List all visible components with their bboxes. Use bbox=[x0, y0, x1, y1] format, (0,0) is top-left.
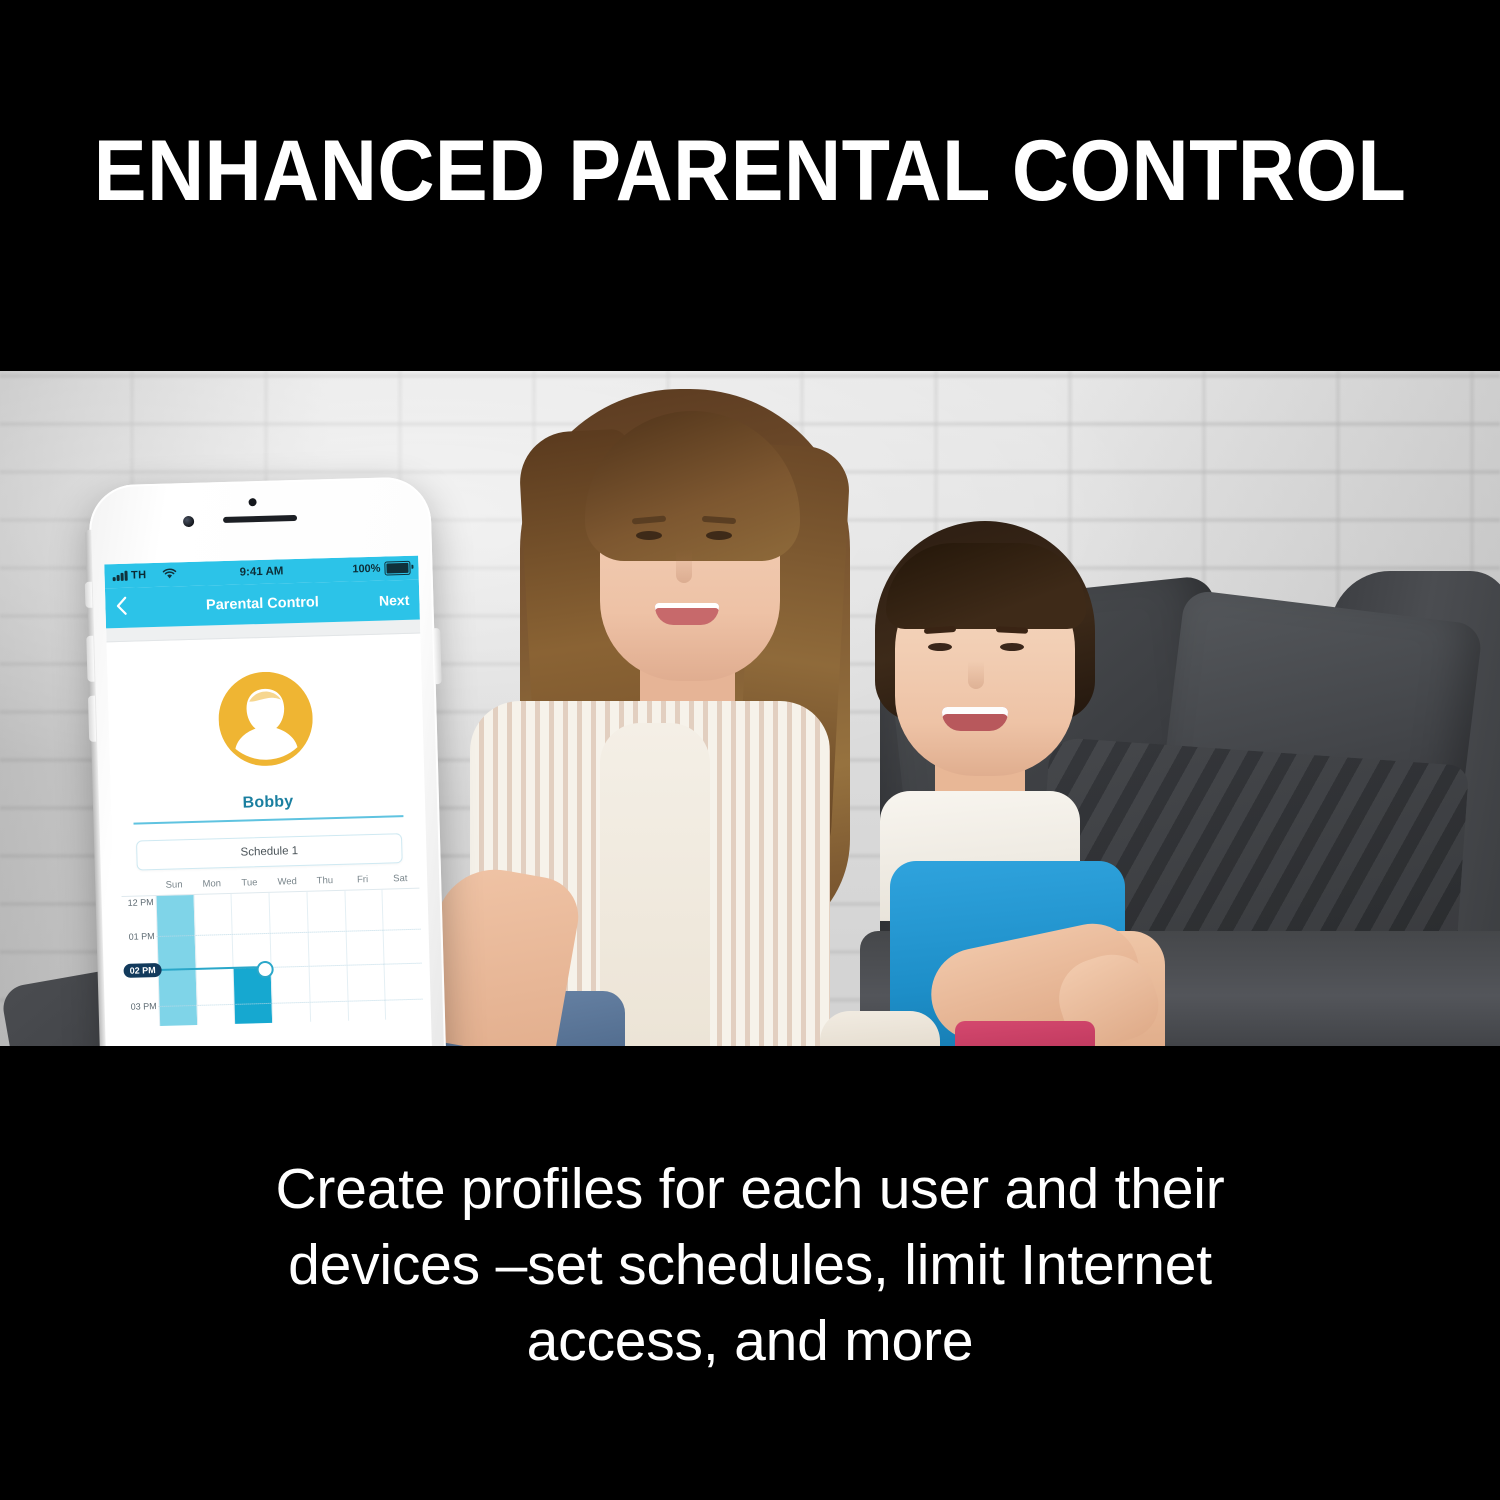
mother-smile bbox=[655, 603, 719, 625]
caption-line-3: access, and more bbox=[0, 1304, 1500, 1380]
battery-percent-label: 100% bbox=[352, 563, 380, 576]
time-label-03pm: 03 PM bbox=[130, 1001, 156, 1012]
page-title: ENHANCED PARENTAL CONTROL bbox=[60, 128, 1440, 214]
status-bar-left: TH bbox=[112, 568, 176, 583]
product-feature-card: ENHANCED PARENTAL CONTROL bbox=[0, 0, 1500, 1500]
day-header-sat: Sat bbox=[381, 872, 419, 884]
caption-line-2: devices –set schedules, limit Internet bbox=[0, 1228, 1500, 1304]
profile-section: Bobby bbox=[106, 634, 425, 825]
phone-mockup: TH 9:41 AM 100% bbox=[88, 476, 447, 1046]
boy-shorts bbox=[955, 1021, 1095, 1046]
time-label-01pm: 01 PM bbox=[129, 931, 155, 942]
wifi-icon bbox=[162, 568, 176, 581]
mother-eye-left bbox=[636, 531, 662, 540]
feature-caption: Create profiles for each user and their … bbox=[0, 1152, 1500, 1379]
battery-full-icon bbox=[384, 561, 410, 576]
day-header-thu: Thu bbox=[306, 874, 344, 886]
boy-hair-fringe bbox=[886, 543, 1086, 629]
name-underline bbox=[133, 815, 403, 824]
schedule-drag-handle[interactable] bbox=[256, 960, 273, 977]
nav-title: Parental Control bbox=[105, 592, 419, 617]
caption-line-1: Create profiles for each user and their bbox=[0, 1152, 1500, 1228]
day-header-wed: Wed bbox=[268, 875, 306, 887]
phone-volume-down-button[interactable] bbox=[88, 696, 96, 742]
day-header-mon: Mon bbox=[193, 877, 231, 889]
time-label-02pm-active[interactable]: 02 PM bbox=[123, 962, 161, 977]
boy-eye-right bbox=[1000, 643, 1024, 651]
grid-corner-spacer bbox=[121, 880, 155, 892]
schedule-grid[interactable]: Sun Mon Tue Wed Thu Fri Sat 12 PM bbox=[121, 872, 423, 1026]
carrier-label: TH bbox=[131, 569, 147, 581]
boy-eye-left bbox=[928, 643, 952, 651]
phone-mute-switch[interactable] bbox=[85, 582, 93, 608]
phone-volume-up-button[interactable] bbox=[86, 636, 94, 682]
schedule-time-axis: 12 PM 01 PM 02 PM 03 PM bbox=[122, 896, 160, 1027]
day-header-sun: Sun bbox=[155, 879, 193, 891]
mother-nose bbox=[676, 549, 692, 583]
back-button[interactable] bbox=[115, 595, 146, 620]
day-header-fri: Fri bbox=[344, 873, 382, 885]
schedule-selector-button[interactable]: Schedule 1 bbox=[136, 833, 403, 870]
boy-sock bbox=[820, 1011, 940, 1046]
boy-nose bbox=[968, 661, 984, 689]
mother-eye-right bbox=[706, 531, 732, 540]
time-label-12pm: 12 PM bbox=[128, 897, 154, 908]
phone-screen: TH 9:41 AM 100% bbox=[104, 556, 432, 1046]
user-avatar-icon[interactable] bbox=[217, 671, 314, 768]
profile-name: Bobby bbox=[111, 789, 425, 816]
schedule-grid-body[interactable]: 12 PM 01 PM 02 PM 03 PM bbox=[122, 887, 424, 1026]
status-bar-right: 100% bbox=[352, 561, 411, 577]
next-button[interactable]: Next bbox=[379, 592, 410, 609]
signal-bars-icon bbox=[112, 571, 127, 581]
lifestyle-photo: TH 9:41 AM 100% bbox=[0, 371, 1500, 1046]
boy-smile bbox=[942, 707, 1008, 731]
day-header-tue: Tue bbox=[230, 876, 268, 888]
